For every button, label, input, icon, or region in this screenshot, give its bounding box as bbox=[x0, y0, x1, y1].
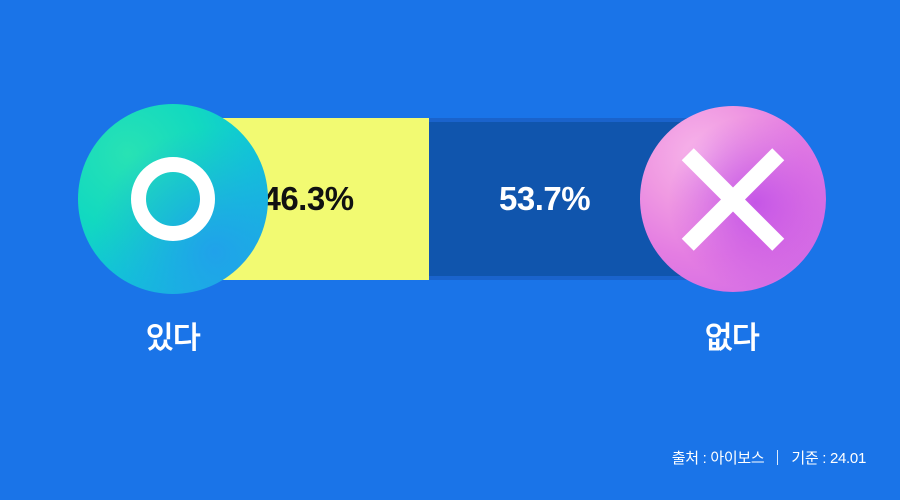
bar-value-label-no: 53.7% bbox=[499, 180, 590, 218]
bar-value-label-yes: 46.3% bbox=[262, 180, 353, 218]
circle-o-icon bbox=[78, 104, 268, 294]
period-text: 기준 : 24.01 bbox=[791, 447, 866, 468]
poll-result-infographic: 46.3% 53.7% 있다 없다 출처 : 아이보스 기준 : 24.01 bbox=[0, 0, 900, 500]
o-mark-icon bbox=[131, 157, 215, 241]
x-mark-icon bbox=[681, 147, 785, 251]
source-text: 출처 : 아이보스 bbox=[672, 447, 765, 468]
category-label-yes: 있다 bbox=[63, 313, 283, 357]
category-label-no: 없다 bbox=[622, 313, 842, 357]
footer-divider bbox=[777, 450, 778, 465]
footer-credits: 출처 : 아이보스 기준 : 24.01 bbox=[672, 447, 866, 468]
circle-x-icon bbox=[640, 106, 826, 292]
